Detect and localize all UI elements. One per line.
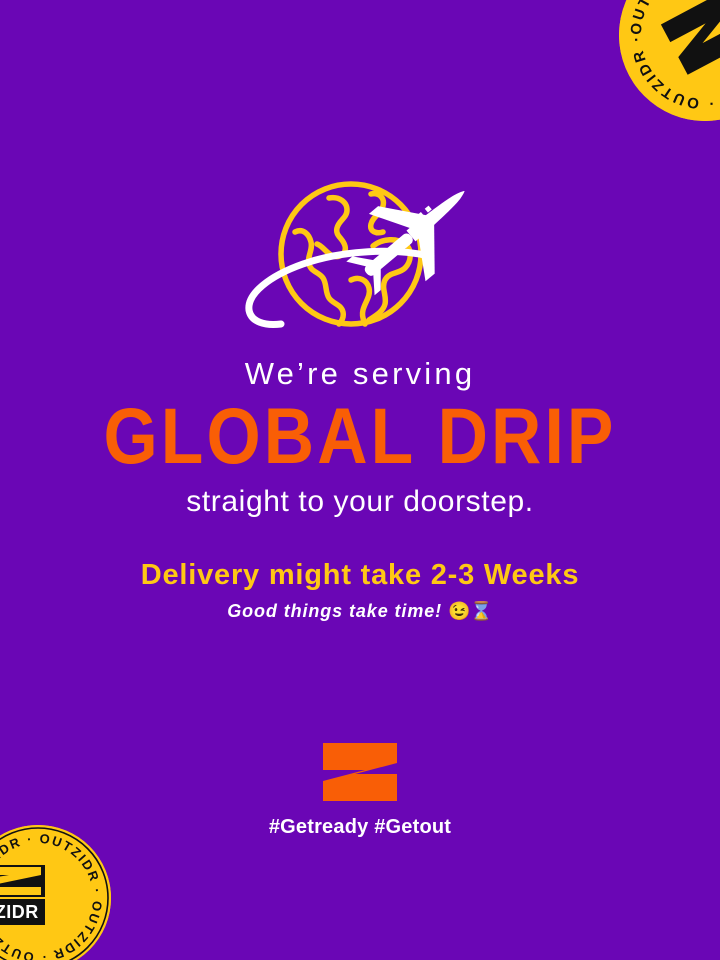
reassurance-line: Good things take time! 😉⌛ — [0, 602, 720, 622]
orbit-swoosh-tail-icon — [249, 310, 281, 324]
subtitle-text: straight to your doorstep. — [0, 485, 720, 518]
headline-block: We’re serving GLOBAL DRIP straight to yo… — [0, 358, 720, 622]
globe-with-airplane-icon — [243, 176, 483, 336]
page-title: GLOBAL DRIP — [0, 397, 720, 476]
outzidr-z-logo — [321, 741, 399, 803]
reassurance-text: Good things take time! — [227, 601, 442, 621]
outzidr-sticker-badge-top-right: OUTZIDR · OUTZIDR · OUTZIDR · OUTZIDR · — [619, 0, 720, 121]
eyebrow-text: We’re serving — [0, 358, 720, 391]
delivery-notice: Delivery might take 2-3 Weeks — [0, 560, 720, 592]
outzidr-sticker-badge-bottom-left: OUTZIDR · OUTZIDR · OUTZIDR · OUTZIDR · … — [0, 825, 111, 960]
promo-poster: OUTZIDR · OUTZIDR · OUTZIDR · OUTZIDR · — [0, 0, 720, 960]
badge-wordmark-bottom-left: OUTZIDR — [0, 902, 39, 922]
wink-hourglass-emoji: 😉⌛ — [448, 601, 493, 621]
